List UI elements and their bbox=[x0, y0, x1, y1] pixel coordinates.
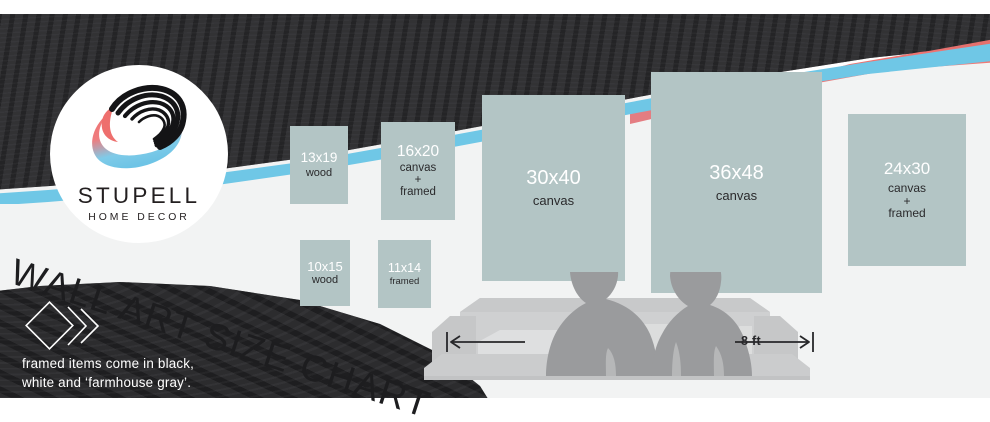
frame-kind-label: canvas bbox=[533, 194, 574, 208]
frame-size-label: 30x40 bbox=[526, 168, 581, 189]
brand-tagline: HOME DECOR bbox=[50, 212, 228, 223]
brand-logo: STUPELL HOME DECOR bbox=[50, 65, 228, 243]
brand-name: STUPELL bbox=[50, 183, 228, 209]
frame-size-label: 24x30 bbox=[884, 160, 930, 178]
frame-kind-label: canvas + framed bbox=[400, 163, 436, 199]
frame-24x30: 24x30 canvas + framed bbox=[848, 114, 966, 266]
frame-30x40: 30x40 canvas bbox=[482, 95, 625, 281]
frame-kind-label: framed bbox=[390, 277, 420, 287]
frame-kind-label: wood bbox=[306, 168, 332, 179]
frame-size-label: 16x20 bbox=[397, 144, 439, 160]
frame-kind-label: canvas + framed bbox=[888, 182, 926, 219]
frame-size-label: 10x15 bbox=[307, 260, 342, 274]
framed-items-note: framed items come in black, white and ‘f… bbox=[22, 355, 282, 392]
frame-13x19: 13x19 wood bbox=[290, 126, 348, 204]
man-silhouette bbox=[546, 272, 658, 376]
stupell-swoosh-logo-icon bbox=[78, 79, 200, 183]
wall-art-size-chart-graphic: STUPELL HOME DECOR WALL ART SIZE CHART f… bbox=[0, 0, 990, 422]
frame-kind-label: canvas bbox=[716, 189, 757, 203]
measurement-label: 8 ft bbox=[741, 334, 761, 348]
frame-size-label: 36x48 bbox=[709, 163, 764, 184]
bottom-white-margin bbox=[0, 398, 990, 422]
frame-size-label: 11x14 bbox=[388, 262, 421, 275]
frame-size-label: 13x19 bbox=[301, 151, 338, 165]
frame-36x48: 36x48 canvas bbox=[651, 72, 822, 293]
note-line-2: white and ‘farmhouse gray’. bbox=[22, 374, 282, 393]
note-line-1: framed items come in black, bbox=[22, 355, 282, 374]
double-diamond-icon bbox=[24, 300, 112, 352]
frame-kind-label: wood bbox=[312, 275, 338, 286]
room-scene bbox=[420, 272, 990, 398]
frame-16x20: 16x20 canvas + framed bbox=[381, 122, 455, 220]
frame-10x15: 10x15 wood bbox=[300, 240, 350, 306]
